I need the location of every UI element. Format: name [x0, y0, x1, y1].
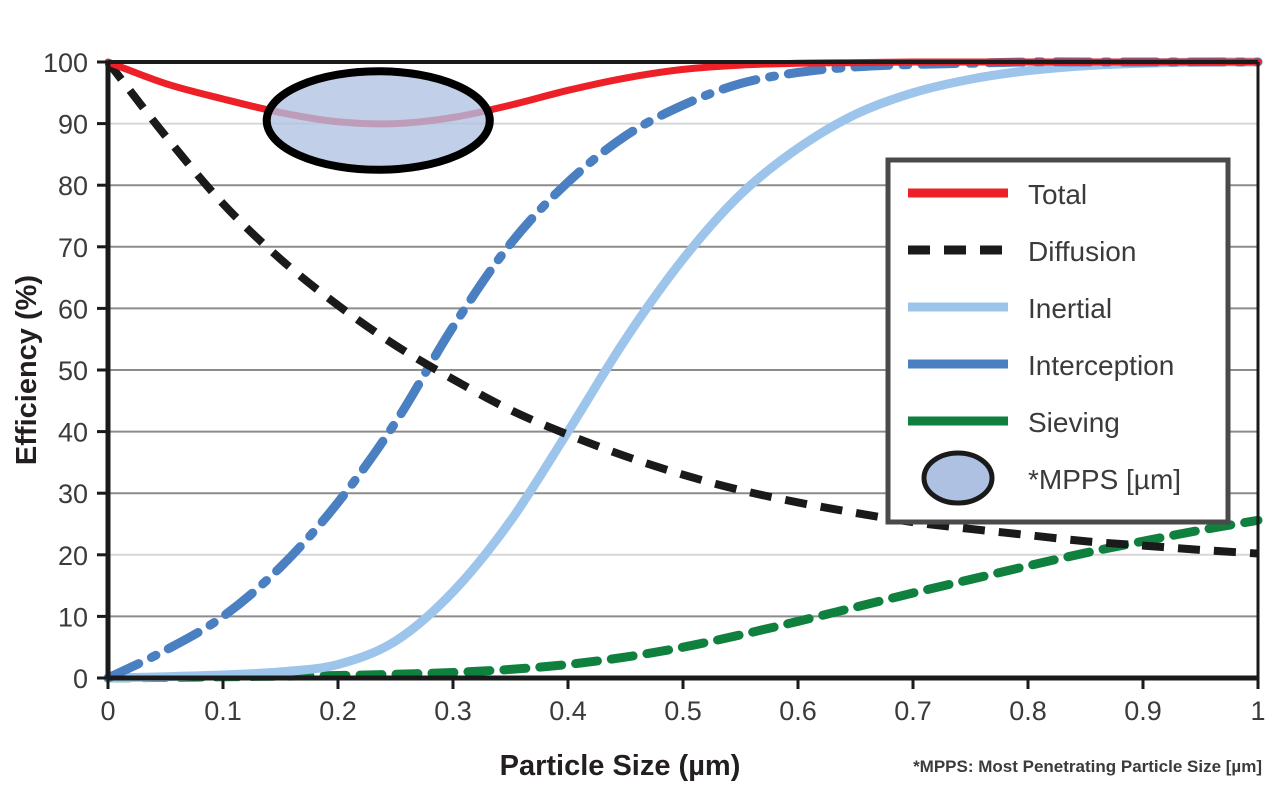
y-tick-label: 80	[58, 171, 88, 201]
x-tick-label: 0.8	[1009, 696, 1047, 726]
chart-svg: 0102030405060708090100 00.10.20.30.40.50…	[0, 0, 1280, 802]
y-tick-label: 100	[43, 48, 88, 78]
legend-label: Diffusion	[1028, 236, 1136, 267]
legend-label: Total	[1028, 179, 1087, 210]
y-tick-label: 70	[58, 233, 88, 263]
x-tick-label: 0.7	[894, 696, 932, 726]
x-tick-label: 1	[1250, 696, 1265, 726]
y-tick-label: 60	[58, 294, 88, 324]
legend-label: Interception	[1028, 350, 1174, 381]
y-tick-label: 40	[58, 418, 88, 448]
x-axis-tick-labels: 00.10.20.30.40.50.60.70.80.91	[100, 696, 1265, 726]
x-tick-label: 0	[100, 696, 115, 726]
x-tick-label: 0.5	[664, 696, 702, 726]
y-tick-label: 20	[58, 541, 88, 571]
x-tick-label: 0.1	[204, 696, 242, 726]
y-tick-label: 30	[58, 479, 88, 509]
legend-label: Sieving	[1028, 407, 1120, 438]
legend-label: *MPPS [µm]	[1028, 464, 1181, 495]
x-axis-title: Particle Size (µm)	[500, 750, 741, 782]
efficiency-chart-figure: 0102030405060708090100 00.10.20.30.40.50…	[0, 0, 1280, 802]
x-tick-label: 0.3	[434, 696, 472, 726]
mpps-footnote: *MPPS: Most Penetrating Particle Size [µ…	[913, 757, 1262, 776]
legend-swatch-mpps	[924, 453, 992, 503]
x-tick-label: 0.6	[779, 696, 817, 726]
y-tick-label: 0	[73, 664, 88, 694]
y-tick-label: 10	[58, 602, 88, 632]
x-tick-label: 0.4	[549, 696, 587, 726]
chart-legend: TotalDiffusionInertialInterceptionSievin…	[888, 160, 1228, 522]
y-axis-title: Efficiency (%)	[11, 275, 43, 465]
mpps-ellipse	[267, 71, 490, 170]
y-tick-label: 90	[58, 110, 88, 140]
x-tick-label: 0.2	[319, 696, 357, 726]
mpps-annotation-group	[267, 71, 490, 170]
legend-label: Inertial	[1028, 293, 1112, 324]
y-tick-label: 50	[58, 356, 88, 386]
x-tick-label: 0.9	[1124, 696, 1162, 726]
y-axis-tick-labels: 0102030405060708090100	[43, 48, 88, 694]
